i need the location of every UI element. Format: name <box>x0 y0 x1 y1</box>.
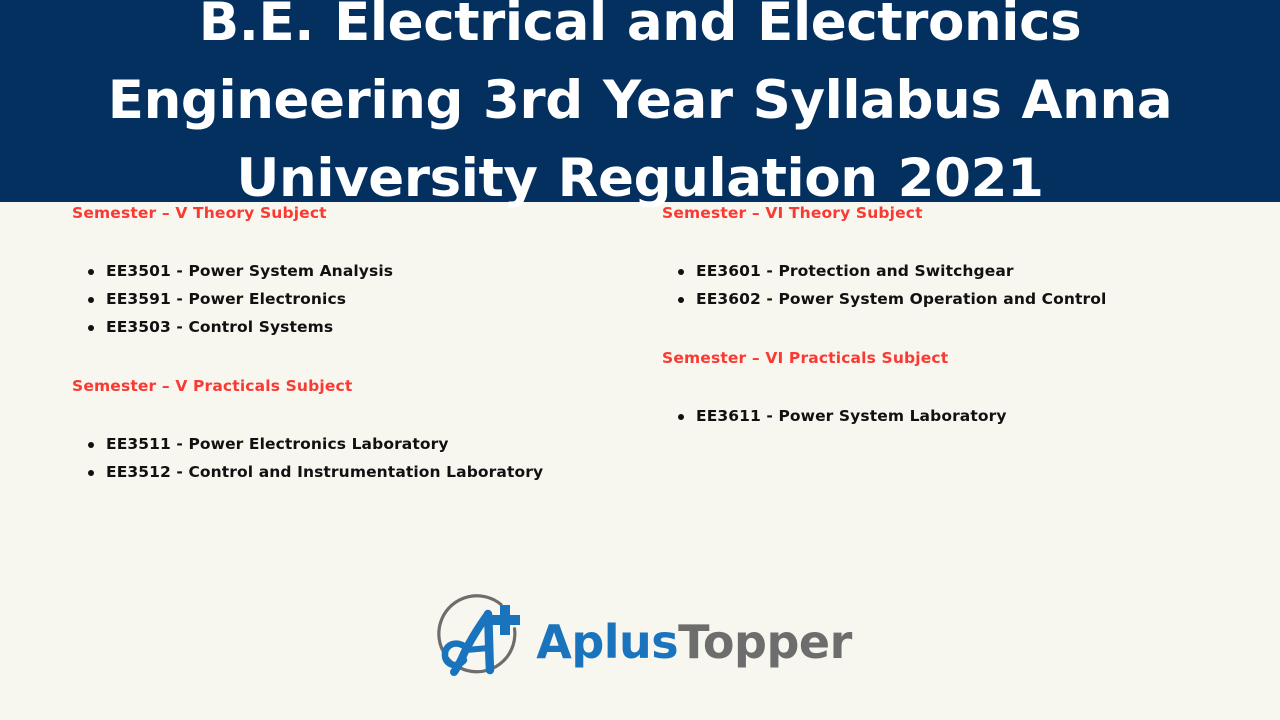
list-item: EE3501 - Power System Analysis <box>72 257 632 285</box>
list-item: EE3511 - Power Electronics Laboratory <box>72 430 632 458</box>
list-item: EE3591 - Power Electronics <box>72 285 632 313</box>
list-item: EE3503 - Control Systems <box>72 313 632 341</box>
logo-word-topper: Topper <box>678 615 852 669</box>
semester-vi-practicals-list: EE3611 - Power System Laboratory <box>662 402 1222 430</box>
spacer <box>72 397 632 430</box>
logo-wordmark: AplusTopper <box>536 619 852 665</box>
syllabus-content: Semester – V Theory Subject EE3501 - Pow… <box>0 202 1280 582</box>
spacer <box>662 369 1222 402</box>
logo-word-aplus: Aplus <box>536 615 678 669</box>
semester-v-theory-heading: Semester – V Theory Subject <box>72 202 632 224</box>
semester-v-practicals-section: Semester – V Practicals Subject EE3511 -… <box>72 375 632 486</box>
site-logo: AplusTopper <box>0 588 1280 696</box>
list-item: EE3611 - Power System Laboratory <box>662 402 1222 430</box>
spacer <box>72 341 632 375</box>
semester-vi-theory-section: Semester – VI Theory Subject EE3601 - Pr… <box>662 202 1222 313</box>
list-item: EE3602 - Power System Operation and Cont… <box>662 285 1222 313</box>
semester-vi-practicals-heading: Semester – VI Practicals Subject <box>662 347 1222 369</box>
semester-vi-theory-heading: Semester – VI Theory Subject <box>662 202 1222 224</box>
semester-vi-theory-list: EE3601 - Protection and Switchgear EE360… <box>662 257 1222 313</box>
logo-inner: AplusTopper <box>428 594 852 690</box>
semester-vi-practicals-section: Semester – VI Practicals Subject EE3611 … <box>662 347 1222 430</box>
page-title: B.E. Electrical and Electronics Engineer… <box>30 0 1250 218</box>
list-item: EE3512 - Control and Instrumentation Lab… <box>72 458 632 486</box>
spacer <box>72 224 632 257</box>
list-item: EE3601 - Protection and Switchgear <box>662 257 1222 285</box>
page-header: B.E. Electrical and Electronics Engineer… <box>0 0 1280 202</box>
semester-v-practicals-list: EE3511 - Power Electronics Laboratory EE… <box>72 430 632 486</box>
semester-vi-column: Semester – VI Theory Subject EE3601 - Pr… <box>662 202 1222 430</box>
semester-v-theory-list: EE3501 - Power System Analysis EE3591 - … <box>72 257 632 341</box>
semester-v-column: Semester – V Theory Subject EE3501 - Pow… <box>72 202 632 486</box>
syllabus-page: B.E. Electrical and Electronics Engineer… <box>0 0 1280 720</box>
aplus-circle-a-icon <box>428 594 532 690</box>
semester-v-theory-section: Semester – V Theory Subject EE3501 - Pow… <box>72 202 632 341</box>
semester-v-practicals-heading: Semester – V Practicals Subject <box>72 375 632 397</box>
spacer <box>662 313 1222 347</box>
spacer <box>662 224 1222 257</box>
